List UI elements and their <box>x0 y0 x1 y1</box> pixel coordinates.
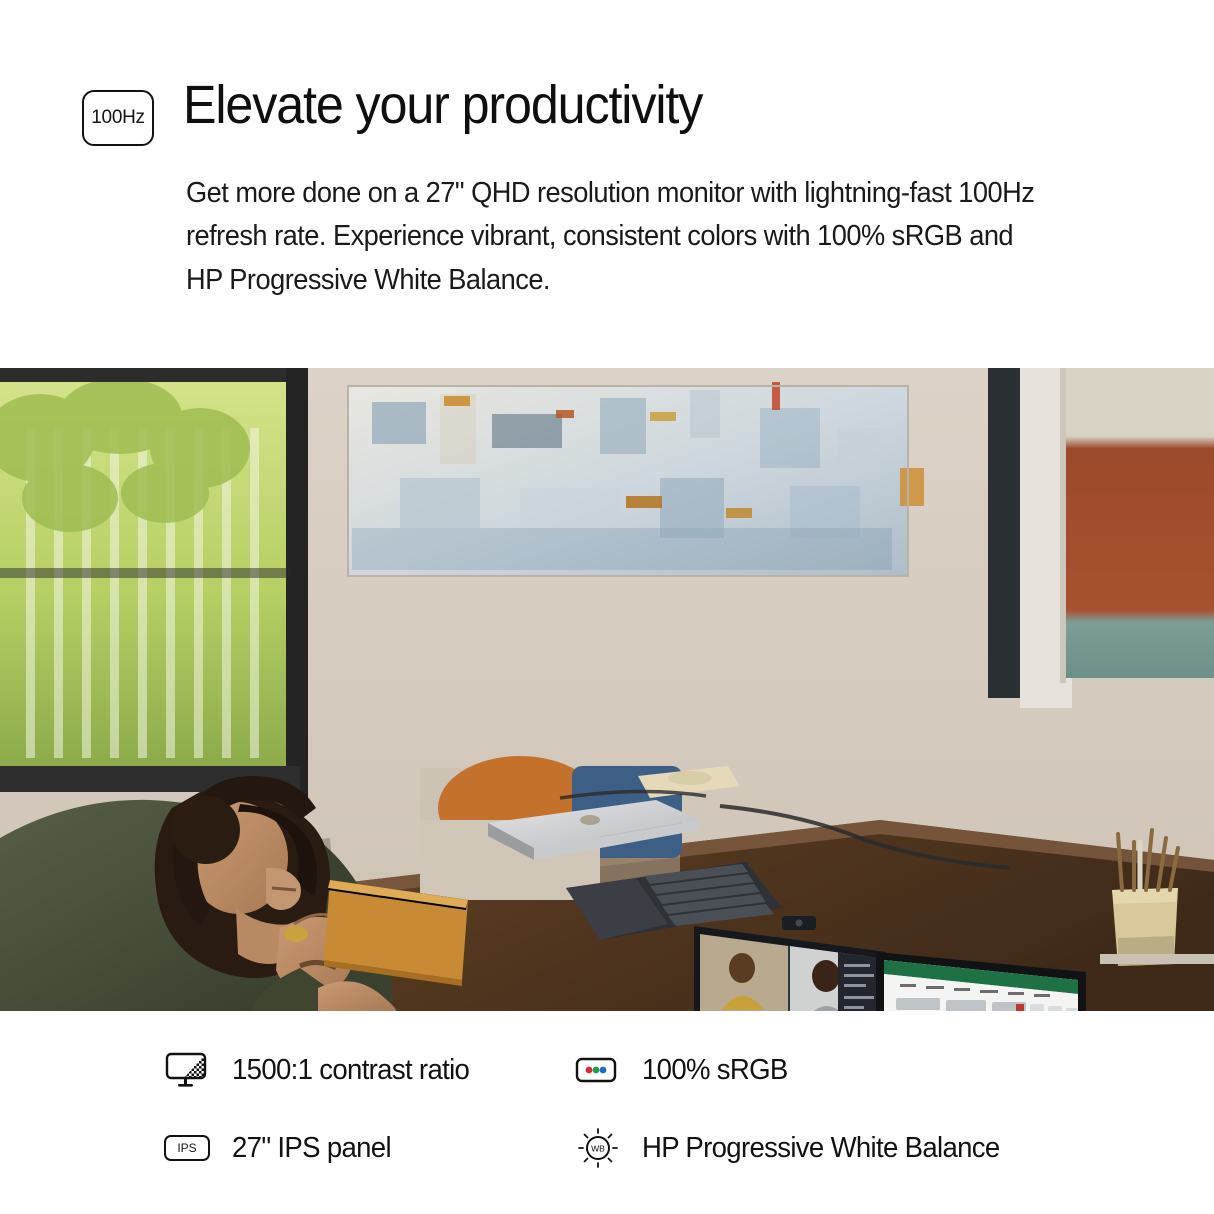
wb-icon-text: WB <box>591 1144 605 1154</box>
feature-white-balance: WB HP Progressive White Balance <box>574 1118 1214 1178</box>
white-balance-sun-icon: WB <box>574 1124 632 1172</box>
rgb-dots-icon <box>574 1054 632 1086</box>
page-title: Elevate your productivity <box>183 78 702 134</box>
feature-ips-panel-label: 27" IPS panel <box>232 1132 391 1165</box>
header-section: 100Hz Elevate your productivity Get more… <box>0 0 1214 302</box>
hero-illustration: REGIONAL SALES $5,00$4,00 $3,00$2,00 $1,… <box>0 368 1214 1011</box>
page-subcopy: Get more done on a 27" QHD resolution mo… <box>186 172 1046 302</box>
feature-contrast-ratio: 1500:1 contrast ratio <box>164 1040 574 1100</box>
wall-art-left <box>348 382 924 576</box>
feature-contrast-ratio-label: 1500:1 contrast ratio <box>232 1054 469 1087</box>
feature-srgb-label: 100% sRGB <box>642 1054 788 1087</box>
ips-badge-icon: IPS <box>164 1135 222 1161</box>
feature-list: 1500:1 contrast ratio 100% sRGB IPS 27" … <box>0 1040 1214 1178</box>
refresh-rate-badge: 100Hz <box>82 90 154 146</box>
headline-row: 100Hz Elevate your productivity <box>0 78 1214 146</box>
refresh-rate-badge-label: 100Hz <box>91 107 144 129</box>
feature-ips-panel: IPS 27" IPS panel <box>164 1118 574 1178</box>
ips-badge-text: IPS <box>177 1141 196 1155</box>
hero-photo: REGIONAL SALES $5,00$4,00 $3,00$2,00 $1,… <box>0 368 1214 1011</box>
feature-srgb: 100% sRGB <box>574 1040 1214 1100</box>
contrast-monitor-icon <box>164 1051 222 1089</box>
feature-white-balance-label: HP Progressive White Balance <box>642 1132 1000 1165</box>
